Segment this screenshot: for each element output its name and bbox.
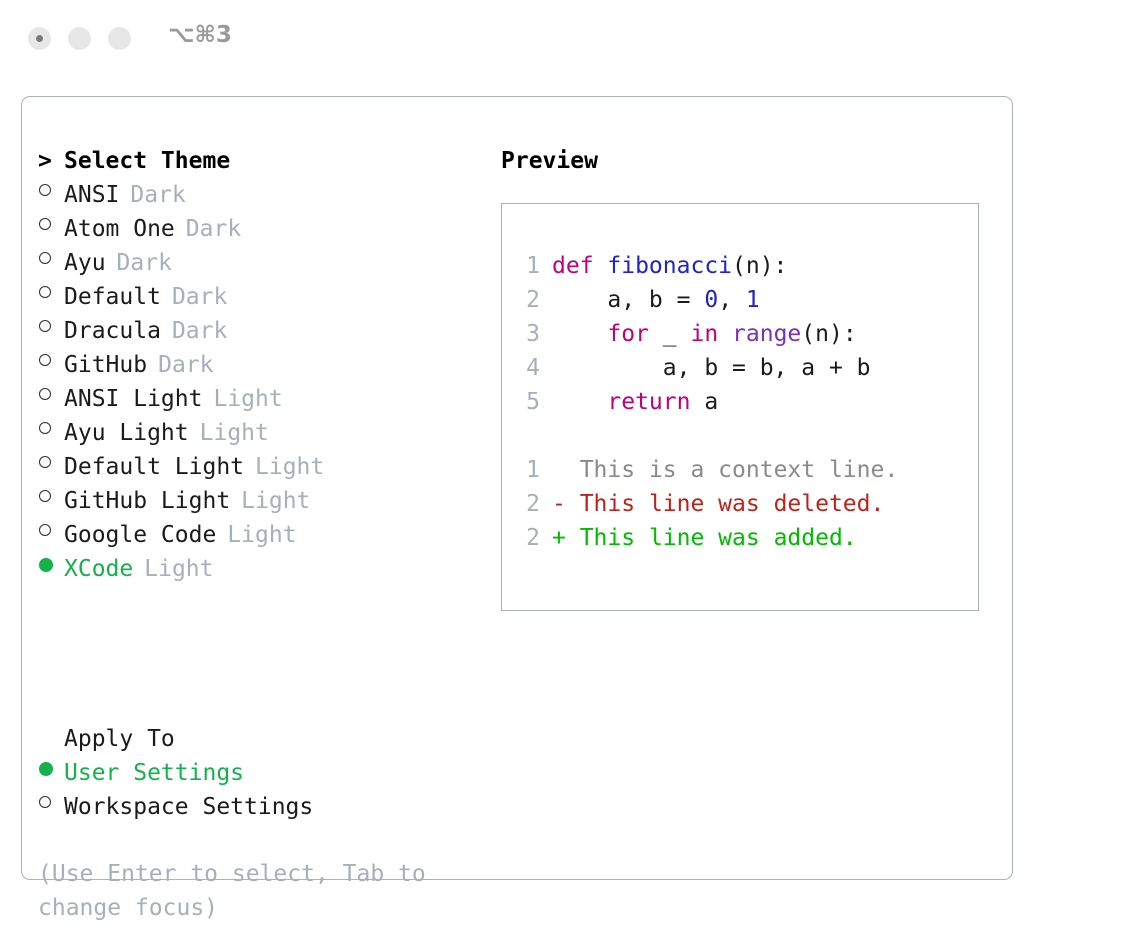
diff-line: 2+ This line was added.: [514, 521, 974, 555]
code-token: for: [607, 321, 649, 347]
theme-option-kind-badge: Light: [227, 522, 296, 548]
code-token: [552, 389, 607, 415]
apply-to-section: Apply To User SettingsWorkspace Settings: [38, 722, 478, 824]
preview-box: 1def fibonacci(n):2 a, b = 0, 13 for _ i…: [501, 203, 979, 611]
theme-option-label: ANSI: [64, 182, 119, 208]
code-token: a, b = b, a + b: [552, 355, 871, 381]
theme-option-label: Dracula: [64, 318, 161, 344]
theme-option-kind-badge: Light: [255, 454, 324, 480]
diff-text: This is a context line.: [566, 457, 898, 483]
code-line: 2 a, b = 0, 1: [514, 283, 974, 317]
theme-option-ansi[interactable]: ANSIDark: [38, 178, 478, 212]
theme-option-ansi-light[interactable]: ANSI LightLight: [38, 382, 478, 416]
apply-to-option-workspace-settings[interactable]: Workspace Settings: [38, 790, 478, 824]
apply-to-option-user-settings[interactable]: User Settings: [38, 756, 478, 790]
keyboard-hint-text: (Use Enter to select, Tab to change focu…: [38, 857, 458, 925]
theme-option-kind-badge: Light: [200, 420, 269, 446]
theme-option-xcode[interactable]: XCodeLight: [38, 552, 478, 586]
theme-option-ayu[interactable]: AyuDark: [38, 246, 478, 280]
line-number: 4: [514, 351, 540, 385]
theme-option-default[interactable]: DefaultDark: [38, 280, 478, 314]
preview-pane: Preview 1def fibonacci(n):2 a, b = 0, 13…: [501, 144, 1001, 178]
theme-list: >Select Theme ANSIDarkAtom OneDarkAyuDar…: [38, 144, 478, 586]
theme-option-kind-badge: Dark: [172, 318, 227, 344]
theme-option-kind-badge: Dark: [117, 250, 172, 276]
diff-text: This line was added.: [566, 525, 857, 551]
theme-option-github-light[interactable]: GitHub LightLight: [38, 484, 478, 518]
theme-option-kind-badge: Dark: [158, 352, 213, 378]
theme-option-label: GitHub Light: [64, 488, 230, 514]
traffic-light-maximize[interactable]: [108, 27, 131, 50]
theme-option-label: Ayu Light: [64, 420, 189, 446]
theme-option-github[interactable]: GitHubDark: [38, 348, 478, 382]
app-window: ⌥⌘3 >Select Theme ANSIDarkAtom OneDarkAy…: [0, 0, 1140, 934]
apply-to-label: Apply To: [38, 722, 478, 756]
theme-option-label: Google Code: [64, 522, 216, 548]
code-token: range: [732, 321, 801, 347]
code-token: a: [690, 389, 718, 415]
theme-option-kind-badge: Light: [213, 386, 282, 412]
theme-option-label: Ayu: [64, 250, 106, 276]
diff-sign: [552, 457, 566, 483]
theme-option-kind-badge: Dark: [186, 216, 241, 242]
line-number: 3: [514, 317, 540, 351]
theme-option-kind-badge: Dark: [172, 284, 227, 310]
code-token: [718, 321, 732, 347]
line-number: 2: [514, 283, 540, 317]
apply-to-options: User SettingsWorkspace Settings: [38, 756, 478, 824]
preview-title: Preview: [501, 144, 1001, 178]
code-token: _: [649, 321, 691, 347]
apply-to-option-label: Workspace Settings: [64, 794, 313, 820]
diff-line-number: 2: [514, 487, 540, 521]
diff-text: This line was deleted.: [566, 491, 885, 517]
diff-line: 2- This line was deleted.: [514, 487, 974, 521]
diff-line: 1 This is a context line.: [514, 453, 974, 487]
theme-option-label: GitHub: [64, 352, 147, 378]
theme-list-header-label: Select Theme: [64, 148, 230, 174]
code-token: a, b =: [552, 287, 704, 313]
line-number: 1: [514, 249, 540, 283]
theme-list-header: >Select Theme: [38, 144, 478, 178]
line-number: 5: [514, 385, 540, 419]
theme-option-kind-badge: Light: [241, 488, 310, 514]
code-token: def: [552, 253, 607, 279]
diff-line-number: 2: [514, 521, 540, 555]
apply-to-option-label: User Settings: [64, 760, 244, 786]
code-token: [552, 321, 607, 347]
code-token: (n):: [732, 253, 787, 279]
diff-line-number: 1: [514, 453, 540, 487]
theme-option-label: Default: [64, 284, 161, 310]
theme-option-label: ANSI Light: [64, 386, 202, 412]
theme-option-kind-badge: Dark: [130, 182, 185, 208]
theme-option-google-code[interactable]: Google CodeLight: [38, 518, 478, 552]
theme-option-ayu-light[interactable]: Ayu LightLight: [38, 416, 478, 450]
title-bar: ⌥⌘3: [0, 0, 1140, 80]
theme-option-kind-badge: Light: [144, 556, 213, 582]
theme-option-dracula[interactable]: DraculaDark: [38, 314, 478, 348]
code-token: return: [607, 389, 690, 415]
diff-sign: +: [552, 525, 566, 551]
prompt-caret-icon: >: [38, 144, 64, 178]
code-token: 1: [746, 287, 760, 313]
code-line: 4 a, b = b, a + b: [514, 351, 974, 385]
theme-option-label: Default Light: [64, 454, 244, 480]
theme-picker-panel: >Select Theme ANSIDarkAtom OneDarkAyuDar…: [21, 96, 1013, 880]
theme-option-default-light[interactable]: Default LightLight: [38, 450, 478, 484]
code-token: (n):: [801, 321, 856, 347]
code-sample: 1def fibonacci(n):2 a, b = 0, 13 for _ i…: [514, 249, 974, 555]
code-line: 5 return a: [514, 385, 974, 419]
theme-option-label: Atom One: [64, 216, 175, 242]
theme-options: ANSIDarkAtom OneDarkAyuDarkDefaultDarkDr…: [38, 178, 478, 586]
code-line: 3 for _ in range(n):: [514, 317, 974, 351]
code-token: in: [690, 321, 718, 347]
traffic-light-minimize[interactable]: [68, 27, 91, 50]
code-line: 1def fibonacci(n):: [514, 249, 974, 283]
theme-option-label: XCode: [64, 556, 133, 582]
theme-option-atom-one[interactable]: Atom OneDark: [38, 212, 478, 246]
code-diff-separator: [514, 419, 974, 453]
traffic-light-close[interactable]: [28, 27, 51, 50]
code-token: fibonacci: [607, 253, 732, 279]
keyboard-shortcut-label: ⌥⌘3: [168, 22, 232, 48]
code-token: ,: [718, 287, 746, 313]
code-token: 0: [704, 287, 718, 313]
diff-sign: -: [552, 491, 566, 517]
